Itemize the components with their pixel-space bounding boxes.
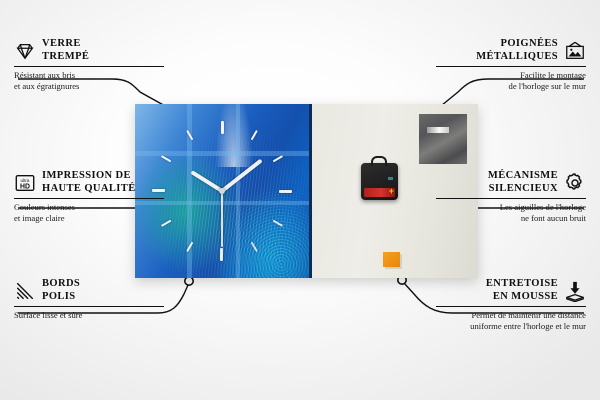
glass-seam (187, 104, 192, 278)
wire-endpoint-bords-polis (185, 277, 193, 285)
hour-tick (161, 155, 223, 192)
hour-tick (221, 191, 223, 261)
callout-bords-polis: BORDSPOLIS Surface lisse et sûre (14, 278, 164, 321)
callout-description: Couleurs intenseset image claire (14, 202, 164, 223)
divider (436, 66, 586, 67)
divider (14, 66, 164, 67)
foam-spacer (383, 252, 400, 267)
callout-mecanisme-silencieux: MÉCANISMESILENCIEUX Les aiguilles de l'h… (436, 170, 586, 223)
callout-title: VERRETREMPÉ (42, 38, 89, 63)
ultra-hd-badge-icon: ultra HD (14, 172, 36, 194)
hour-tick (222, 155, 284, 192)
callout-header: POIGNÉESMÉTALLIQUES (436, 38, 586, 63)
callout-description: Surface lisse et sûre (14, 310, 164, 321)
hour-tick (161, 190, 223, 227)
callout-description: Résistant aux briset aux égratignures (14, 70, 164, 91)
hanger-loop (371, 156, 387, 166)
hour-tick (221, 191, 258, 253)
quartz-movement (361, 163, 398, 200)
callout-description: Les aiguilles de l'horlogene font aucun … (436, 202, 586, 223)
battery (364, 188, 395, 197)
callout-title: BORDSPOLIS (42, 278, 80, 303)
metal-hanger-plate (419, 114, 467, 164)
svg-text:HD: HD (20, 183, 30, 190)
callout-title: ENTRETOISEEN MOUSSE (486, 278, 558, 303)
glass-seam (135, 151, 309, 156)
arrow-down-onto-pad-icon (564, 280, 586, 302)
product-image (135, 104, 478, 278)
callout-description: Permet de maintenir une distanceuniforme… (436, 310, 586, 331)
gear-icon (564, 172, 586, 194)
hour-tick (222, 190, 284, 227)
hour-hand (190, 170, 223, 192)
glass-highlight (215, 104, 253, 167)
divider (14, 198, 164, 199)
callout-poignees-metalliques: POIGNÉESMÉTALLIQUES Facilite le montaged… (436, 38, 586, 91)
hour-tick (186, 191, 223, 253)
hour-tick (221, 121, 223, 191)
glass-seam (236, 104, 240, 278)
minute-hand (221, 159, 263, 193)
callout-header: VERRETREMPÉ (14, 38, 164, 63)
hour-tick (186, 130, 223, 192)
callout-title: IMPRESSION DEHAUTE QUALITÉ (42, 170, 136, 195)
infographic-canvas: VERRETREMPÉ Résistant aux briset aux égr… (0, 0, 600, 400)
hand-cap (219, 188, 225, 194)
callout-verre-trempe: VERRETREMPÉ Résistant aux briset aux égr… (14, 38, 164, 91)
callout-description: Facilite le montagede l'horloge sur le m… (436, 70, 586, 91)
diamond-icon (14, 40, 36, 62)
callout-entretoise-en-mousse: ENTRETOISEEN MOUSSE Permet de maintenir … (436, 278, 586, 331)
divider (14, 306, 164, 307)
callout-header: ultra HD IMPRESSION DEHAUTE QUALITÉ (14, 170, 164, 195)
hour-tick (222, 190, 292, 192)
divider (436, 198, 586, 199)
callout-header: BORDSPOLIS (14, 278, 164, 303)
hour-tick (221, 130, 258, 192)
svg-text:ultra: ultra (21, 178, 30, 183)
polished-edge-icon (14, 280, 36, 302)
second-hand (221, 191, 223, 247)
callout-impression-haute-qualite: ultra HD IMPRESSION DEHAUTE QUALITÉ Coul… (14, 170, 164, 223)
callout-title: POIGNÉESMÉTALLIQUES (476, 38, 558, 63)
callout-header: ENTRETOISEEN MOUSSE (436, 278, 586, 303)
picture-frame-icon (564, 40, 586, 62)
callout-header: MÉCANISMESILENCIEUX (436, 170, 586, 195)
callout-title: MÉCANISMESILENCIEUX (488, 170, 558, 195)
movement-label (388, 177, 393, 180)
divider (436, 306, 586, 307)
